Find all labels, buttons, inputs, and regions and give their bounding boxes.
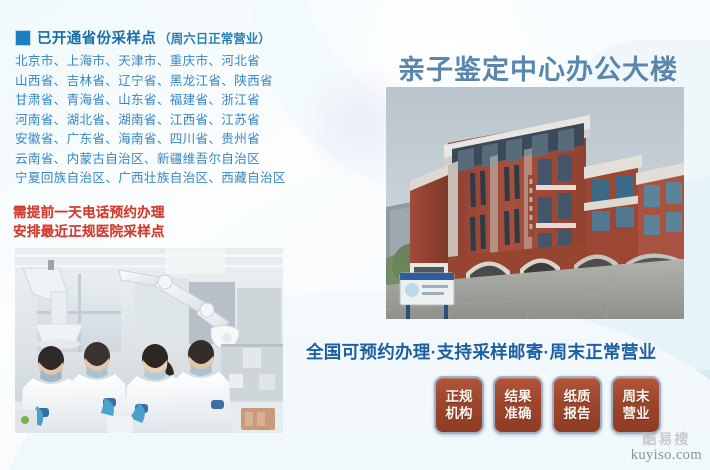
lab-photo [15,248,283,433]
badge-line-1: 周末 [623,388,650,405]
badge-weekend-open[interactable]: 周末 营业 [611,376,661,434]
province-list: 北京市、上海市、天津市、重庆市、河北省 山西省、吉林省、辽宁省、黑龙江省、陕西省… [15,52,305,189]
badge-line-1: 纸质 [564,388,591,405]
building-photo-illustration [386,87,684,319]
badge-regular-institution[interactable]: 正规 机构 [434,376,484,434]
feature-badges: 正规 机构 结果 准确 纸质 报告 周末 营业 [434,376,661,434]
province-row: 北京市、上海市、天津市、重庆市、河北省 [15,52,305,72]
notice-line: 需提前一天电话预约办理 [13,203,165,222]
poster-canvas: 已开通省份采样点 （周六日正常营业） 北京市、上海市、天津市、重庆市、河北省 山… [0,0,710,470]
notice-line: 安排最近正规医院采样点 [13,222,165,241]
province-row: 甘肃省、青海省、山东省、福建省、浙江省 [15,91,305,111]
province-row: 山西省、吉林省、辽宁省、黑龙江省、陕西省 [15,72,305,92]
section-header-title: 已开通省份采样点 [37,27,156,48]
province-row: 宁夏回族自治区、广西壮族自治区、西藏自治区 [15,169,305,189]
square-bullet-icon [16,31,30,45]
badge-line-2: 报告 [564,405,591,422]
badge-line-1: 正规 [446,388,473,405]
section-header-subtitle: （周六日正常营业） [158,28,271,47]
badge-paper-report[interactable]: 纸质 报告 [552,376,602,434]
badge-accurate-result[interactable]: 结果 准确 [493,376,543,434]
building-photo [386,87,684,319]
lab-photo-illustration [15,248,283,433]
left-column: 已开通省份采样点 （周六日正常营业） 北京市、上海市、天津市、重庆市、河北省 山… [0,0,300,470]
badge-line-2: 营业 [623,405,650,422]
province-row: 河南省、湖北省、湖南省、江西省、江苏省 [15,111,305,131]
badge-line-2: 准确 [505,405,532,422]
badge-line-1: 结果 [505,388,532,405]
province-row: 云南省、内蒙古自治区、新疆维吾尔自治区 [15,150,305,170]
page-title: 亲子鉴定中心办公大楼 [398,48,678,87]
province-row: 安徽省、广东省、海南省、四川省、贵州省 [15,130,305,150]
badge-line-2: 机构 [446,405,473,422]
section-header: 已开通省份采样点 （周六日正常营业） [16,27,271,48]
appointment-notice: 需提前一天电话预约办理 安排最近正规医院采样点 [13,203,165,241]
tagline: 全国可预约办理·支持采样邮寄·周末正常营业 [306,339,656,364]
